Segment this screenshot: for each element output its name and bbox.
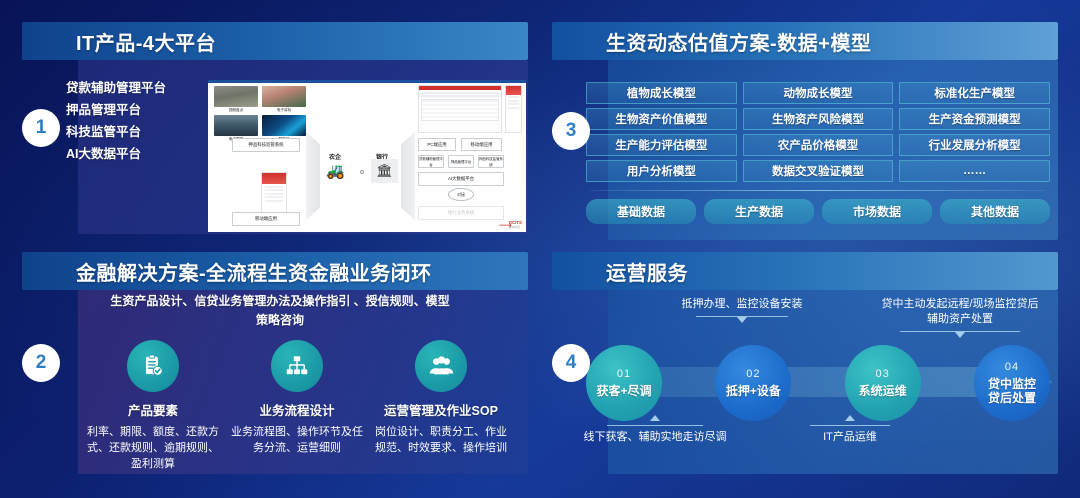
users-group-icon — [415, 340, 467, 392]
panel2-number-badge: 2 — [22, 344, 60, 382]
data-chip[interactable]: 基础数据 — [586, 199, 696, 224]
architecture-screenshot: 视频盘点 电子耳标 电子围栏 智能锁 押品科技监管系统 — [208, 80, 526, 232]
timeline-node-01[interactable]: 01 获客+尽调 — [586, 345, 662, 421]
thumbnail-image-3 — [262, 115, 306, 136]
monitoring-thumbnails: 视频盘点 电子耳标 电子围栏 智能锁 — [214, 86, 306, 144]
diagram-box-mobile-app-right: 移动端应用 — [461, 138, 502, 151]
note-arrow-icon — [650, 415, 660, 421]
panel1-number-badge: 1 — [22, 109, 60, 147]
data-chip[interactable]: 生产数据 — [704, 199, 814, 224]
timeline-note-step2: 抵押办理、监控设备安装 — [672, 297, 812, 323]
platform-list: 贷款辅助管理平台 押品管理平台 科技监管平台 AI大数据平台 — [66, 78, 196, 166]
panel4-header: 运营服务 — [552, 252, 1058, 290]
diagram-box-supervision-platform: 押品科技监管系统 — [478, 155, 504, 168]
sync-icon: 对接 — [448, 188, 474, 201]
model-card[interactable]: 植物成长模型 — [586, 82, 737, 104]
vendor-logo: ⟶ DCITS 神州信息 — [499, 221, 522, 230]
timeline-node-label: 抵押+设备 — [726, 384, 781, 398]
timeline-node-number: 02 — [746, 368, 760, 380]
model-card[interactable]: 数据交叉验证模型 — [743, 160, 894, 182]
panel2-column-product: 产品要素 利率、期限、额度、还款方式、还款规则、逾期规则、盈利测算 — [82, 340, 224, 472]
diagram-box-ai-bigdata: AI大数据平台 — [418, 172, 504, 186]
panel2-column-desc: 利率、期限、额度、还款方式、还款规则、逾期规则、盈利测算 — [82, 424, 224, 472]
hierarchy-icon — [271, 340, 323, 392]
diagram-box-bank-system: 银行业务系统 — [418, 206, 504, 220]
timeline-node-label: 系统运维 — [859, 384, 907, 398]
model-card[interactable]: 生产能力评估模型 — [586, 134, 737, 156]
timeline-node-label: 贷中监控 贷后处置 — [988, 377, 1036, 405]
tractor-icon: 🚜 — [326, 164, 345, 179]
thumbnail-1: 电子耳标 — [262, 86, 306, 113]
phone-row — [508, 103, 519, 105]
panel2-column-process: 业务流程设计 业务流程图、操作环节及任务分流、运营细则 — [226, 340, 368, 472]
slide-canvas: IT产品-4大平台 1 贷款辅助管理平台 押品管理平台 科技监管平台 AI大数据… — [0, 0, 1080, 498]
platform-item-3: AI大数据平台 — [66, 144, 196, 164]
model-card[interactable]: 用户分析模型 — [586, 160, 737, 182]
logo-subtext: 神州信息 — [509, 225, 522, 229]
screenshot-topbar — [208, 80, 526, 83]
data-chip[interactable]: 市场数据 — [822, 199, 932, 224]
timeline-node-number: 04 — [1005, 361, 1019, 373]
model-card[interactable]: 动物成长模型 — [743, 82, 894, 104]
model-card[interactable]: 生物资产价值模型 — [586, 108, 737, 130]
note-rule — [607, 425, 703, 426]
diagram-box-supervision-system: 押品科技监管系统 — [232, 138, 300, 152]
timeline-note-step1: 线下获客、辅助实地走访尽调 — [580, 415, 730, 445]
label-agri-enterprise: 农企 — [329, 152, 341, 161]
phone-header — [262, 173, 286, 184]
panel2-column-desc: 岗位设计、职责分工、作业规范、时效要求、操作培训 — [370, 424, 512, 456]
clipboard-check-icon — [127, 340, 179, 392]
funnel-right-shape — [401, 132, 415, 220]
timeline-node-label: 获客+尽调 — [596, 384, 651, 398]
timeline-note-step3: IT产品运维 — [780, 415, 920, 445]
bank-icon: 🏛 — [371, 159, 398, 183]
panel3-number-badge: 3 — [552, 112, 590, 150]
note-arrow-icon — [955, 332, 965, 338]
timeline-note-text: 贷中主动发起远程/现场监控贷后辅助资产处置 — [880, 297, 1040, 327]
timeline-node-02[interactable]: 02 抵押+设备 — [715, 345, 791, 421]
window-row — [421, 92, 499, 94]
window-data-grid — [421, 99, 499, 121]
panel2-column-title: 业务流程设计 — [226, 400, 368, 419]
panel2-column-title: 运营管理及作业SOP — [370, 400, 512, 419]
thumbnail-image-0 — [214, 86, 258, 107]
phone-row — [265, 193, 283, 195]
note-rule — [810, 425, 890, 426]
connector-dot-icon — [360, 170, 364, 174]
thumbnail-caption-0: 视频盘点 — [214, 107, 258, 113]
phone-row — [265, 189, 283, 191]
panel4-title: 运营服务 — [606, 257, 688, 286]
thumbnail-image-1 — [262, 86, 306, 107]
timeline-note-text: 线下获客、辅助实地走访尽调 — [580, 430, 730, 445]
timeline-node-number: 01 — [617, 368, 631, 380]
model-card[interactable]: …… — [899, 160, 1050, 182]
model-card[interactable]: 农产品价格模型 — [743, 134, 894, 156]
phone-row — [265, 196, 283, 198]
model-card[interactable]: 生产资金预测模型 — [899, 108, 1050, 130]
phone-row — [265, 200, 283, 202]
diagram-box-collateral-platform: 押品管理平台 — [448, 155, 474, 168]
panel2-column-operations: 运营管理及作业SOP 岗位设计、职责分工、作业规范、时效要求、操作培训 — [370, 340, 512, 472]
timeline-note-text: IT产品运维 — [780, 430, 920, 445]
panel1-header: IT产品-4大平台 — [22, 22, 528, 60]
panel2-column-desc: 业务流程图、操作环节及任务分流、运营细则 — [226, 424, 368, 456]
timeline-node-04[interactable]: 04 贷中监控 贷后处置 — [974, 345, 1050, 421]
mobile-window-mock — [505, 85, 522, 133]
platform-item-0: 贷款辅助管理平台 — [66, 78, 196, 98]
thumbnail-0: 视频盘点 — [214, 86, 258, 113]
phone-row — [508, 96, 519, 98]
panel3-header: 生资动态估值方案-数据+模型 — [552, 22, 1058, 60]
panel2-column-title: 产品要素 — [82, 400, 224, 419]
timeline-node-03[interactable]: 03 系统运维 — [845, 345, 921, 421]
note-arrow-icon — [845, 415, 855, 421]
model-card[interactable]: 标准化生产模型 — [899, 82, 1050, 104]
panel1-title: IT产品-4大平台 — [76, 27, 216, 56]
thumbnail-image-2 — [214, 115, 258, 136]
panel2-subtitle: 生资产品设计、信贷业务管理办法及操作指引 、授信规则、模型策略咨询 — [110, 292, 450, 330]
panel2-columns: 产品要素 利率、期限、额度、还款方式、还款规则、逾期规则、盈利测算 业务流程设计 — [82, 340, 512, 472]
thumbnail-caption-1: 电子耳标 — [262, 107, 306, 113]
timeline-nodes: 01 获客+尽调 02 抵押+设备 03 系统运维 04 贷中监控 贷后处置 — [586, 345, 1050, 421]
model-grid: 植物成长模型 动物成长模型 标准化生产模型 生物资产价值模型 生物资产风险模型 … — [586, 82, 1050, 182]
panel3-divider — [590, 190, 1046, 191]
panel2-title: 金融解决方案-全流程生资金融业务闭环 — [76, 257, 432, 286]
window-titlebar — [419, 86, 501, 90]
diagram-box-pc-app: PC端应用 — [418, 138, 456, 151]
diagram-box-loan-platform: 贷款辅助管理平台 — [418, 155, 444, 168]
funnel-left-shape — [306, 132, 320, 220]
data-source-chips: 基础数据 生产数据 市场数据 其他数据 — [586, 199, 1050, 224]
platform-item-1: 押品管理平台 — [66, 100, 196, 120]
window-row — [421, 95, 499, 97]
panel3-title: 生资动态估值方案-数据+模型 — [606, 27, 871, 56]
phone-row — [265, 186, 283, 188]
data-chip[interactable]: 其他数据 — [940, 199, 1050, 224]
timeline-node-number: 03 — [876, 368, 890, 380]
phone-row — [508, 107, 519, 109]
phone-row — [508, 100, 519, 102]
logo-swoosh-icon: ⟶ — [499, 221, 508, 229]
timeline-note-text: 抵押办理、监控设备安装 — [672, 297, 812, 312]
model-card[interactable]: 生物资产风险模型 — [743, 108, 894, 130]
platform-item-2: 科技监管平台 — [66, 122, 196, 142]
desktop-window-mock — [418, 85, 502, 133]
diagram-box-mobile-app-left: 移动端应用 — [232, 212, 300, 226]
panel4-number-badge: 4 — [552, 344, 590, 382]
panel2-header: 金融解决方案-全流程生资金融业务闭环 — [22, 252, 528, 290]
note-arrow-icon — [737, 317, 747, 323]
model-card[interactable]: 行业发展分析模型 — [899, 134, 1050, 156]
phone-header — [506, 86, 521, 95]
timeline-note-step4: 贷中主动发起远程/现场监控贷后辅助资产处置 — [880, 297, 1040, 338]
